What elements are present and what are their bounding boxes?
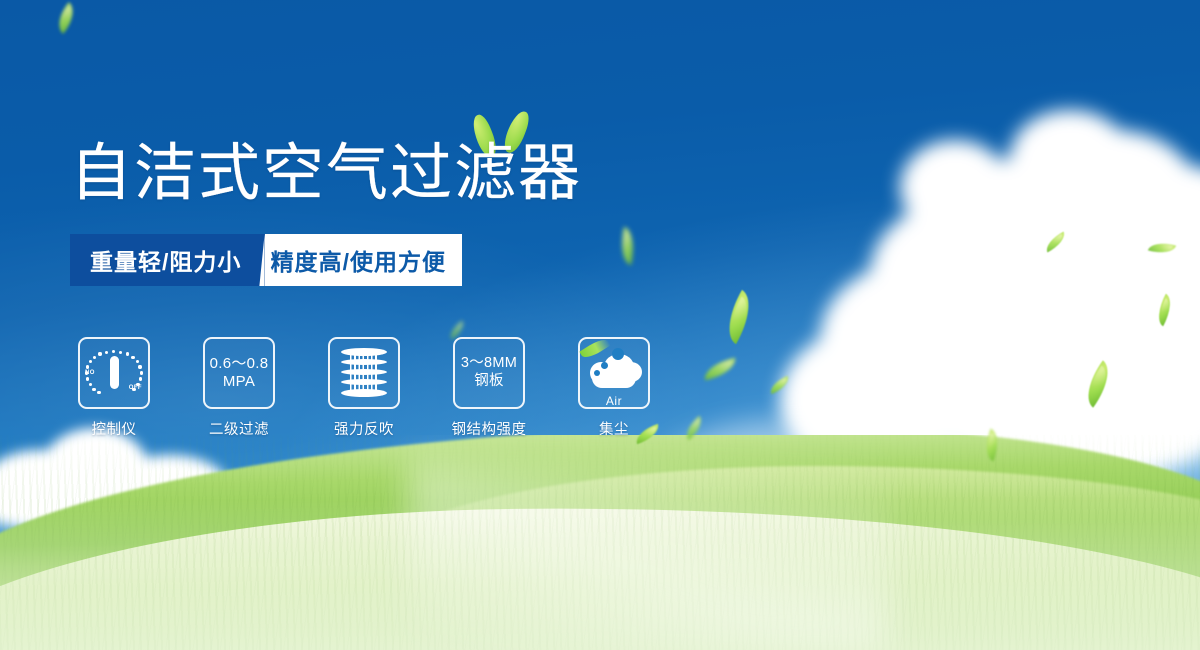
feature-item-secondary-filter[interactable]: 0.6～0.8 MPA 二级过滤 (205, 337, 273, 439)
promo-banner: 自洁式空气过滤器 重量轻/阻力小 精度高/使用方便 (0, 0, 1200, 650)
subtitle-bar: 重量轻/阻力小 精度高/使用方便 (70, 234, 462, 286)
gauge-dial-icon: NO OFF (86, 347, 142, 399)
feature-list: NO OFF 控制仪 0.6～0.8 MPA 二级过滤 (80, 337, 648, 439)
feature-box-line2: MPA (210, 373, 269, 391)
feature-box-line2: 钢板 (461, 373, 517, 391)
subtitle-left: 重量轻/阻力小 (70, 234, 259, 286)
feature-item-dust-collection[interactable]: Air 集尘 (580, 337, 648, 439)
feature-box (328, 337, 400, 409)
pressure-text-icon: 0.6～0.8 MPA (210, 355, 269, 392)
grass-field (0, 435, 1200, 650)
feature-caption: 集尘 (599, 418, 629, 439)
feature-caption: 强力反吹 (334, 418, 394, 439)
subtitle-right-text: 精度高/使用方便 (271, 243, 446, 277)
feature-box: NO OFF (78, 337, 150, 409)
feature-caption: 二级过滤 (209, 418, 269, 439)
feature-item-backblow[interactable]: 强力反吹 (330, 337, 398, 439)
feature-box-line1: 0.6～0.8 (210, 355, 269, 373)
feature-box-line1: 3～8MM (461, 355, 517, 373)
steel-plate-text-icon: 3～8MM 钢板 (461, 355, 517, 390)
feature-box: 3～8MM 钢板 (453, 337, 525, 409)
cloud-air-icon: Air (584, 350, 644, 396)
air-label: Air (584, 394, 644, 408)
gauge-label-no: NO (85, 370, 95, 376)
page-title: 自洁式空气过滤器 (70, 142, 582, 204)
filter-cartridge-icon (341, 348, 387, 398)
feature-item-controller[interactable]: NO OFF 控制仪 (80, 337, 148, 439)
feature-caption: 控制仪 (92, 418, 137, 439)
subtitle-left-text: 重量轻/阻力小 (90, 243, 241, 277)
feature-box: Air (578, 337, 650, 409)
feature-box: 0.6～0.8 MPA (203, 337, 275, 409)
leaf-streak-icon (579, 336, 610, 361)
feature-item-steel-strength[interactable]: 3～8MM 钢板 钢结构强度 (455, 337, 523, 439)
feature-caption: 钢结构强度 (452, 418, 527, 439)
subtitle-right: 精度高/使用方便 (265, 234, 462, 286)
gauge-label-off: OFF (129, 385, 142, 391)
